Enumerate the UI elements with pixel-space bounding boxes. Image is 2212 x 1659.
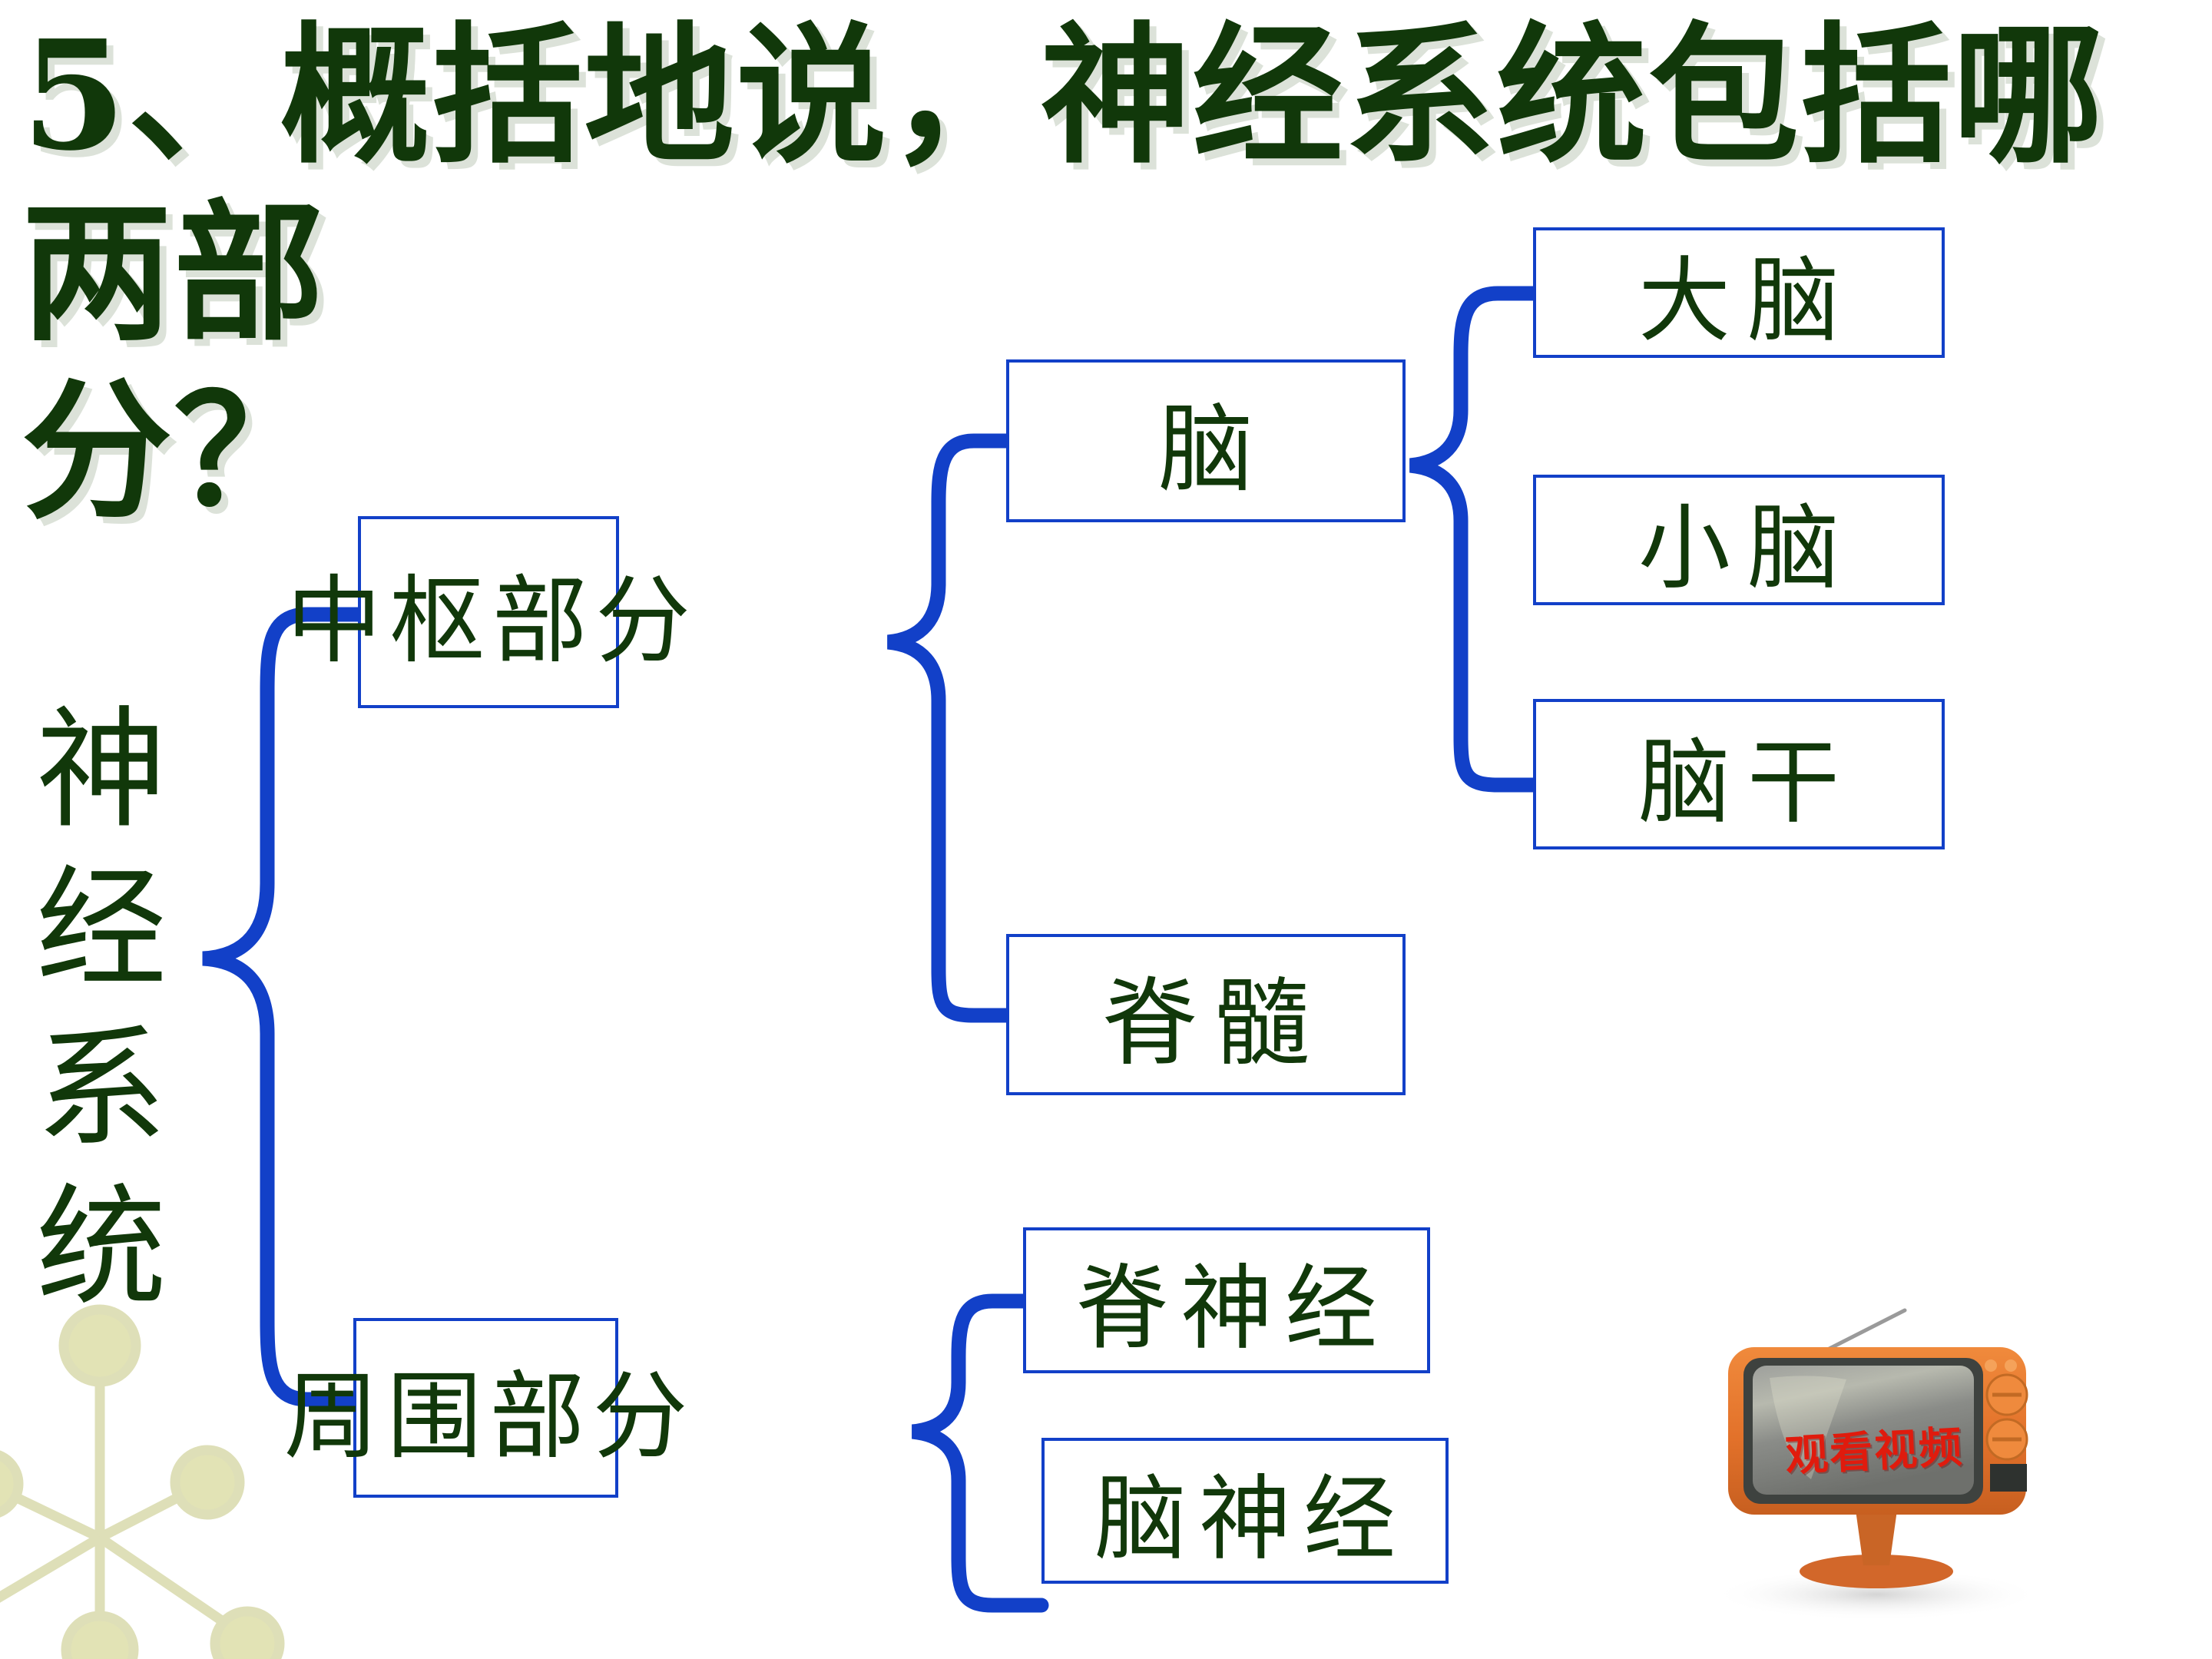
slide-canvas: 5、概括地说，神经系统包括哪两部 分？ 神 经 系 统 [0,0,2212,1659]
node-cranial-nerves[interactable]: 脑神经 [1041,1438,1449,1584]
tv-caption[interactable]: 观看视频 [1757,1411,1991,1485]
node-central-part[interactable]: 中枢部分 [358,516,619,708]
node-cerebellum[interactable]: 小脑 [1533,475,1945,605]
node-spinal-nerves[interactable]: 脊神经 [1023,1227,1430,1373]
node-brain[interactable]: 脑 [1006,359,1406,522]
node-peripheral-part[interactable]: 周围部分 [353,1318,618,1498]
node-brainstem[interactable]: 脑干 [1533,699,1945,849]
node-cerebrum[interactable]: 大脑 [1533,227,1945,358]
node-spinal-cord[interactable]: 脊髓 [1006,934,1406,1095]
